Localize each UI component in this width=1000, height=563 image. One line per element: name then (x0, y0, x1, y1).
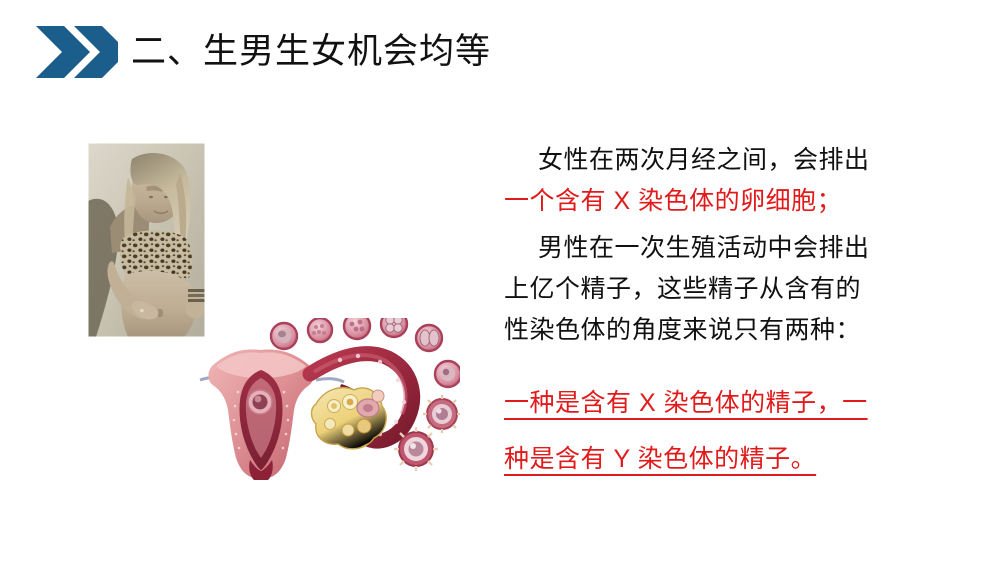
slide-header: 二、生男生女机会均等 (0, 0, 1000, 104)
paragraph-1-line-2: 一个含有 X 染色体的卵细胞； (504, 181, 934, 222)
paragraph-2: 男性在一次生殖活动中会排出 上亿个精子，这些精子从含有的 性染色体的角度来说只有… (504, 228, 934, 351)
paragraph-2-line-1: 男性在一次生殖活动中会排出 (504, 228, 934, 269)
uterus-ovary-diagram (198, 318, 460, 482)
double-chevron-right-icon (34, 24, 118, 80)
pregnancy-photo (88, 143, 205, 337)
paragraph-2-line-2: 上亿个精子，这些精子从含有的 (504, 269, 934, 310)
paragraph-1: 女性在两次月经之间，会排出 一个含有 X 染色体的卵细胞； (504, 140, 934, 222)
slide-canvas: 二、生男生女机会均等 (0, 0, 1000, 563)
paragraph-3-highlight: 一种是含有 X 染色体的精子，一 种是含有 Y 染色体的精子。 (504, 375, 934, 487)
paragraph-1-line-1: 女性在两次月经之间，会排出 (504, 140, 934, 181)
paragraph-3-line-2: 种是含有 Y 染色体的精子。 (504, 431, 934, 487)
paragraph-2-line-3: 性染色体的角度来说只有两种： (504, 310, 934, 351)
paragraph-3-line-1: 一种是含有 X 染色体的精子，一 (504, 375, 934, 431)
page-title: 二、生男生女机会均等 (131, 26, 491, 78)
body-text: 女性在两次月经之间，会排出 一个含有 X 染色体的卵细胞； 男性在一次生殖活动中… (504, 140, 934, 487)
